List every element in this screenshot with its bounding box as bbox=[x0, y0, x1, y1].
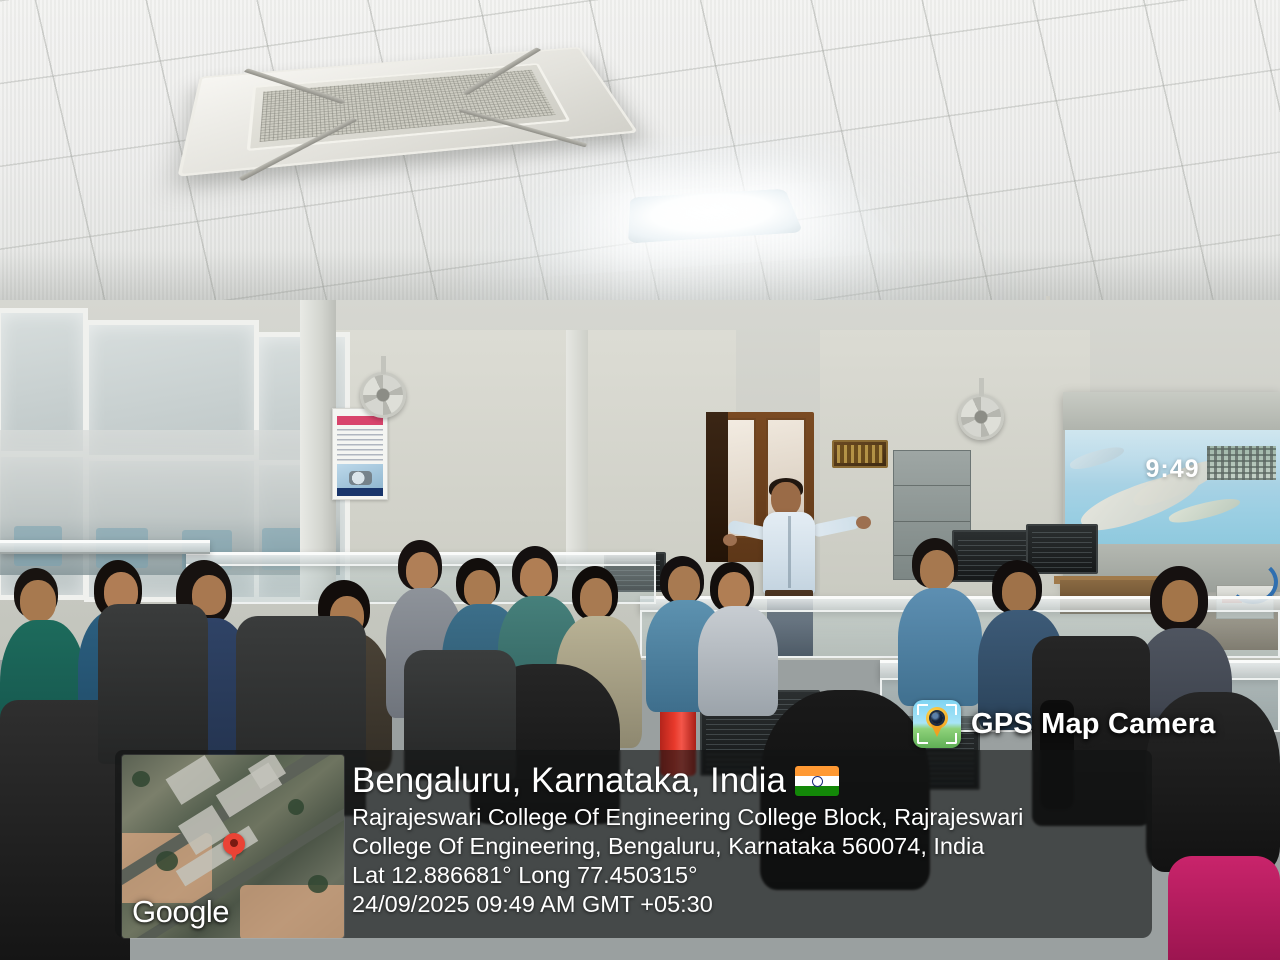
wall-column bbox=[566, 330, 588, 570]
presenter-right-hand bbox=[856, 516, 871, 529]
ac-grille bbox=[259, 69, 556, 142]
geotag-text-block: Bengaluru, Karnataka, India Rajrajeswari… bbox=[352, 762, 1142, 920]
map-thumbnail[interactable]: Google bbox=[122, 755, 344, 938]
screen-top-border bbox=[1063, 392, 1280, 430]
fan-arm bbox=[979, 378, 984, 396]
ac-inner-panel bbox=[246, 63, 570, 151]
address-line-1: Rajrajeswari College Of Engineering Coll… bbox=[352, 803, 1142, 832]
map-tree bbox=[308, 875, 328, 893]
map-tree bbox=[156, 851, 178, 871]
poster-footer-band bbox=[337, 488, 383, 496]
wall-plaque bbox=[832, 440, 888, 468]
gps-map-camera-watermark: GPS Map Camera bbox=[913, 700, 1216, 748]
computer-monitor bbox=[1026, 524, 1098, 574]
monitor-screen-content bbox=[1032, 530, 1092, 568]
photo-canvas: 9:49 bbox=[0, 0, 1280, 960]
plaque-engraving bbox=[837, 445, 883, 463]
fan-blades-icon bbox=[360, 372, 406, 418]
location-title-row: Bengaluru, Karnataka, India bbox=[352, 762, 1142, 799]
cabinet-seam bbox=[894, 521, 970, 522]
location-title: Bengaluru, Karnataka, India bbox=[352, 762, 786, 799]
projector-screen-clock: 9:49 bbox=[1065, 455, 1280, 484]
address-line-2: College Of Engineering, Bengaluru, Karna… bbox=[352, 832, 1142, 861]
presenter-head bbox=[771, 482, 801, 516]
foreground-person-shirt bbox=[1168, 856, 1280, 960]
map-location-pin bbox=[223, 833, 245, 855]
viewfinder-bracket-icon bbox=[917, 733, 928, 744]
google-logo: Google bbox=[132, 894, 229, 930]
viewfinder-bracket-icon bbox=[917, 704, 928, 715]
camera-lens-icon bbox=[931, 712, 943, 724]
presenter-left-hand bbox=[723, 534, 737, 546]
india-flag-icon bbox=[795, 766, 839, 796]
map-open-ground bbox=[240, 885, 344, 938]
timestamp-line: 24/09/2025 09:49 AM GMT +05:30 bbox=[352, 890, 1142, 919]
shirt-placket bbox=[788, 516, 791, 588]
map-tree bbox=[132, 771, 150, 787]
map-tree bbox=[288, 799, 304, 815]
fan-arm bbox=[381, 356, 386, 374]
viewfinder-bracket-icon bbox=[946, 733, 957, 744]
lab-bench-row bbox=[0, 540, 210, 554]
poster-text-lines bbox=[337, 429, 383, 461]
poster-image bbox=[337, 464, 383, 490]
gps-map-camera-icon bbox=[913, 700, 961, 748]
fan-blades-icon bbox=[958, 394, 1004, 440]
gps-map-camera-label: GPS Map Camera bbox=[971, 708, 1216, 741]
chair-back bbox=[98, 604, 208, 764]
wall-fan bbox=[958, 394, 1004, 440]
coordinates-line: Lat 12.886681° Long 77.450315° bbox=[352, 861, 1142, 890]
wall-fan bbox=[360, 372, 406, 418]
viewfinder-bracket-icon bbox=[946, 704, 957, 715]
cabinet-seam bbox=[894, 485, 970, 486]
wall-poster bbox=[332, 408, 388, 500]
presenter-shirt bbox=[763, 512, 815, 594]
